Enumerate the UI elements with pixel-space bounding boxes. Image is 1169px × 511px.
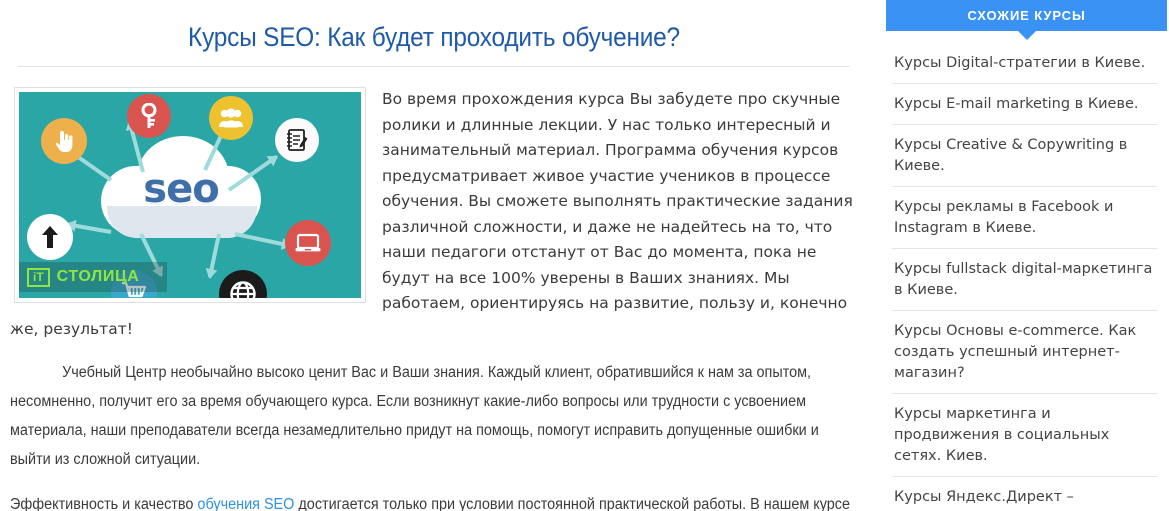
watermark-badge: iT	[27, 268, 50, 287]
seo-illustration: seo	[19, 92, 361, 298]
sidebar-item-course[interactable]: Курсы Яндекс.Директ – Эффективная контек…	[892, 476, 1157, 511]
sidebar-item-course[interactable]: Курсы маркетинга и продвижения в социаль…	[892, 393, 1157, 476]
arrow-to-globe-icon	[208, 234, 221, 278]
page-root: Курсы SEO: Как будет проходить обучение?	[0, 0, 1169, 511]
key-icon	[127, 94, 171, 138]
article-figure: seo	[14, 87, 366, 303]
document-icon	[275, 118, 319, 162]
cloud-seo-label: seo	[101, 166, 261, 212]
sidebar-header-label: СХОЖИЕ КУРСЫ	[967, 8, 1085, 23]
globe-icon	[219, 270, 267, 298]
article-paragraph-3: Эффективность и качество обучения SEO до…	[10, 490, 858, 511]
page-title: Курсы SEO: Как будет проходить обучение?	[44, 0, 824, 66]
article-paragraph-2: Учебный Центр необычайно высоко ценит Ва…	[10, 358, 858, 474]
sidebar-item-course[interactable]: Курсы рекламы в Facebook и Instagram в К…	[892, 186, 1157, 248]
sidebar-item-course[interactable]: Курсы Основы e-commerce. Как создать усп…	[892, 310, 1157, 393]
article-body: seo	[10, 87, 858, 511]
watermark: iT СТОЛИЦА	[19, 262, 167, 292]
sidebar-list: Курсы Digital-стратегии в Киеве. Курсы E…	[880, 42, 1169, 511]
up-arrow-icon	[27, 214, 73, 260]
related-courses-sidebar: СХОЖИЕ КУРСЫ Курсы Digital-стратегии в К…	[880, 0, 1169, 511]
sidebar-item-course[interactable]: Курсы Digital-стратегии в Киеве.	[892, 42, 1157, 83]
seo-training-link[interactable]: обучения SEO	[197, 496, 294, 511]
sidebar-item-course[interactable]: Курсы E-mail marketing в Киеве.	[892, 83, 1157, 124]
sidebar-header: СХОЖИЕ КУРСЫ	[886, 0, 1167, 31]
sidebar-item-course[interactable]: Курсы Creative & Copywriting в Киеве.	[892, 124, 1157, 186]
laptop-icon	[285, 220, 331, 266]
article-column: Курсы SEO: Как будет проходить обучение?	[0, 0, 880, 511]
watermark-text: СТОЛИЦА	[57, 268, 140, 286]
users-icon	[209, 96, 253, 140]
title-divider	[18, 66, 850, 67]
caret-down-icon	[1018, 31, 1036, 40]
paragraph-3-text-before: Эффективность и качество	[10, 496, 197, 511]
cloud-shape: seo	[101, 136, 261, 240]
sidebar-item-course[interactable]: Курсы fullstack digital-маркетинга в Кие…	[892, 248, 1157, 310]
